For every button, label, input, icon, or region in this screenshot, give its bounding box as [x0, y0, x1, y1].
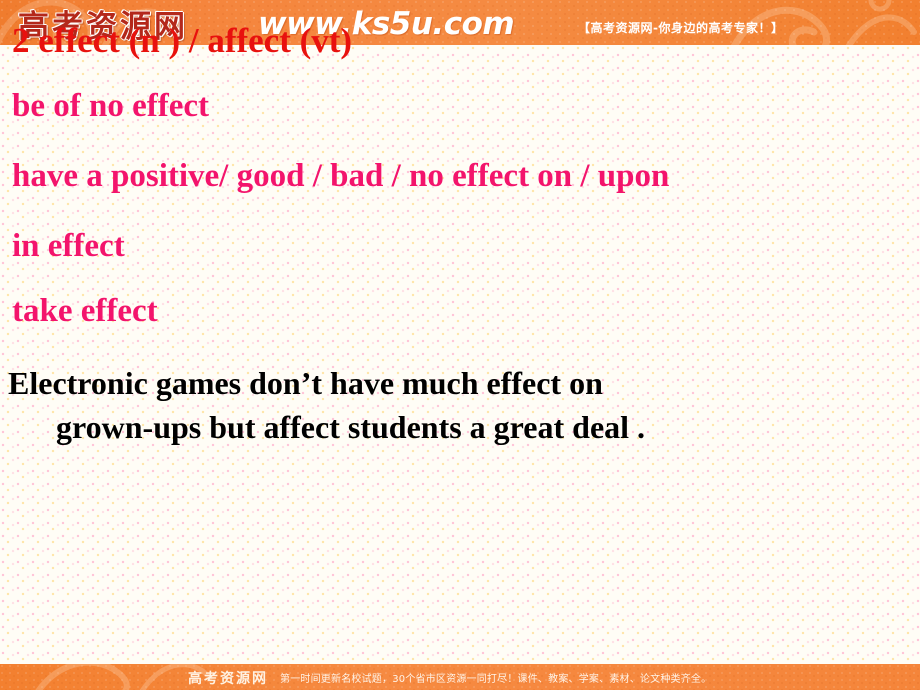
slide-title: 2 effect (n ) / affect (vt): [12, 21, 352, 61]
presentation-slide: 高考资源网 www.ks5u.com 【高考资源网-你身边的高考专家！】 2 e…: [0, 0, 920, 690]
footer-description: 第一时间更新名校试题，30个省市区资源一同打尽！课件、教案、学案、素材、论文种类…: [280, 670, 711, 685]
phrase-item-4: take effect: [12, 293, 158, 330]
phrase-item-2: have a positive/ good / bad / no effect …: [12, 158, 669, 195]
example-sentence: Electronic games don’t have much effect …: [8, 361, 888, 449]
example-sentence-line-1: Electronic games don’t have much effect …: [8, 365, 603, 401]
slide-content: 2 effect (n ) / affect (vt) be of no eff…: [0, 0, 920, 690]
footer-banner: 高考资源网 第一时间更新名校试题，30个省市区资源一同打尽！课件、教案、学案、素…: [0, 664, 920, 690]
footer-logo-cn: 高考资源网: [188, 668, 268, 688]
phrase-item-1: be of no effect: [12, 88, 209, 125]
example-sentence-line-2: grown-ups but affect students a great de…: [8, 405, 888, 449]
phrase-item-3: in effect: [12, 228, 125, 265]
